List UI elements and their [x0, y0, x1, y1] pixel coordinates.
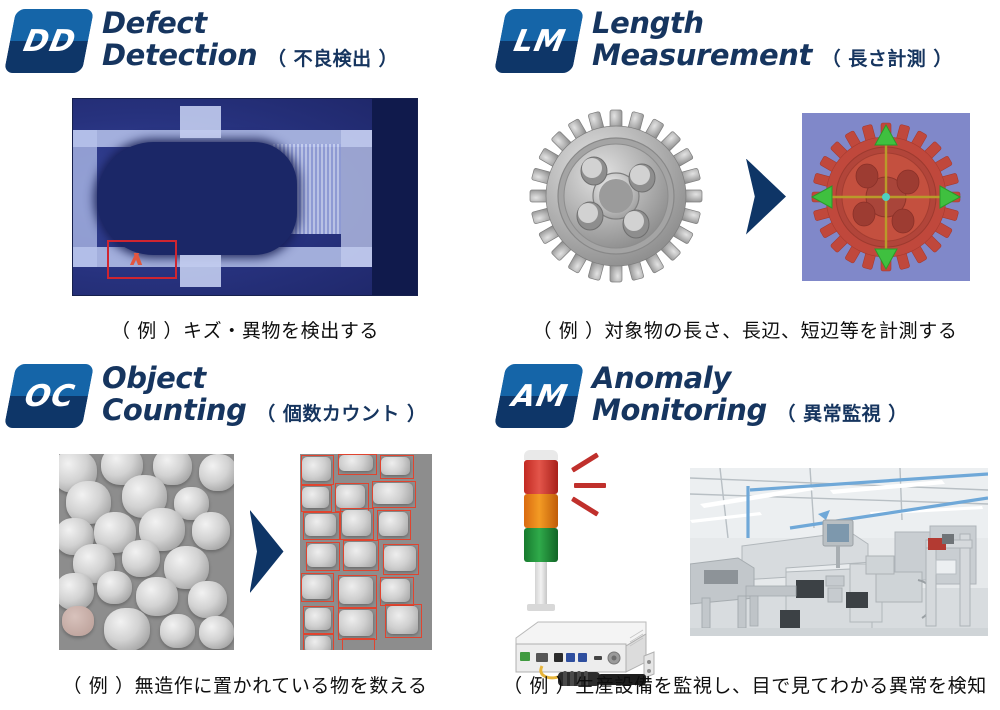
xray-capsule-body [97, 142, 297, 256]
xray-dark-edge [372, 99, 417, 295]
feature-grid: DD Defect Detection （ 不良検出 ） [0, 0, 1000, 710]
title-line-2: Monitoring [592, 393, 767, 427]
badge-am: AM [494, 364, 584, 428]
detection-box [303, 634, 334, 650]
title-line-2-wrap: Counting （ 個数カウント ） [102, 394, 426, 426]
tower-cap [524, 450, 558, 460]
object-blob [199, 454, 234, 491]
alert-ray [571, 496, 599, 516]
measured-gear-illustration [802, 113, 970, 281]
detection-box [303, 512, 339, 539]
object-blob [97, 571, 132, 604]
xray-inspection-image [73, 99, 417, 295]
signal-tower-light-icon [524, 450, 558, 610]
detection-box [342, 638, 376, 650]
objects-source-image [59, 454, 234, 650]
detection-box [301, 573, 335, 602]
object-blob [104, 608, 150, 649]
tower-lamp-green [524, 528, 558, 562]
detection-box [385, 604, 421, 637]
detection-box [340, 508, 374, 539]
object-blob [122, 540, 161, 577]
detection-box [380, 577, 414, 606]
panel-title: Length Measurement （ 長さ計測 ） [592, 6, 953, 72]
factory-line-photo [690, 468, 988, 636]
panel-title: Defect Detection （ 不良検出 ） [102, 6, 398, 72]
title-line-2-wrap: Monitoring （ 異常監視 ） [592, 394, 908, 426]
badge-abbr-label: AM [494, 364, 584, 428]
detection-box [383, 544, 419, 575]
badge-oc: OC [4, 364, 94, 428]
title-japanese: （ 長さ計測 ） [822, 48, 953, 70]
detection-box [301, 455, 335, 484]
factory-illustration [690, 468, 988, 636]
alert-ray [571, 452, 599, 472]
object-blob [136, 577, 178, 616]
gear-photo [520, 104, 730, 289]
title-japanese: （ 個数カウント ） [256, 403, 426, 425]
panel-caption: （ 例 ）生産設備を監視し、目で見てわかる異常を検知 [490, 671, 1000, 698]
monitoring-device-illustration [502, 444, 682, 659]
process-arrow-icon [250, 510, 284, 594]
panel-object-counting: OC Object Counting （ 個数カウント ） [0, 355, 490, 710]
title-line-1: Object [102, 361, 206, 395]
panel-caption: （ 例 ）対象物の長さ、長辺、短辺等を計測する [490, 316, 1000, 343]
panel-caption: （ 例 ）キズ・異物を検出する [0, 316, 490, 343]
media-area [490, 82, 1000, 311]
panel-header: OC Object Counting （ 個数カウント ） [0, 355, 490, 437]
detection-box [338, 608, 377, 639]
object-blob [160, 614, 195, 647]
badge-abbr-label: OC [4, 364, 94, 428]
object-blob [59, 573, 94, 610]
detection-box [372, 481, 416, 508]
object-blob [188, 581, 227, 618]
objects-detected-image [300, 454, 432, 650]
media-area [490, 437, 1000, 666]
measurement-result-image [802, 113, 970, 281]
object-blob [62, 606, 94, 635]
tower-lamp-red [524, 460, 558, 494]
detection-box [306, 542, 340, 571]
panel-header: DD Defect Detection （ 不良検出 ） [0, 0, 490, 82]
panel-header: AM Anomaly Monitoring （ 異常監視 ） [490, 355, 1000, 437]
title-line-2: Measurement [592, 38, 812, 72]
media-area [0, 82, 490, 311]
detection-box [301, 485, 332, 512]
panel-defect-detection: DD Defect Detection （ 不良検出 ） [0, 0, 490, 355]
panel-title: Anomaly Monitoring （ 異常監視 ） [592, 361, 908, 427]
panel-caption: （ 例 ）無造作に置かれている物を数える [0, 671, 490, 698]
title-line-2-wrap: Measurement （ 長さ計測 ） [592, 39, 953, 71]
detection-box [377, 510, 411, 539]
title-line-2: Detection [102, 38, 257, 72]
defect-detection-box [107, 240, 176, 279]
tower-lamp-amber [524, 494, 558, 528]
alert-rays-icon [568, 454, 628, 518]
xray-bottom-connector [180, 255, 221, 286]
title-line-1: Defect [102, 6, 207, 40]
badge-abbr-label: LM [494, 9, 584, 73]
tower-pole [535, 562, 547, 604]
badge-abbr-label: DD [4, 9, 94, 73]
process-arrow-icon [746, 159, 786, 235]
gear-illustration [520, 104, 730, 289]
detection-box [303, 606, 334, 633]
badge-dd: DD [4, 9, 94, 73]
title-japanese: （ 異常監視 ） [777, 403, 908, 425]
object-blob [192, 512, 231, 549]
panel-title: Object Counting （ 個数カウント ） [102, 361, 426, 427]
title-japanese: （ 不良検出 ） [267, 48, 398, 70]
title-line-2-wrap: Detection （ 不良検出 ） [102, 39, 398, 71]
badge-lm: LM [494, 9, 584, 73]
panel-anomaly-monitoring: AM Anomaly Monitoring （ 異常監視 ） [490, 355, 1000, 710]
title-line-1: Anomaly [592, 361, 731, 395]
media-area [0, 437, 490, 666]
detection-box [343, 540, 379, 571]
detection-box [380, 455, 414, 479]
detection-box [338, 575, 377, 608]
xray-top-connector [180, 106, 221, 137]
title-line-1: Length [592, 6, 704, 40]
title-line-2: Counting [102, 393, 247, 427]
tower-base [527, 604, 555, 611]
panel-length-measurement: LM Length Measurement （ 長さ計測 ） [490, 0, 1000, 355]
xray-right-plate [341, 130, 372, 267]
alert-ray [574, 483, 606, 488]
panel-header: LM Length Measurement （ 長さ計測 ） [490, 0, 1000, 82]
detection-box [338, 454, 377, 476]
object-blob [199, 616, 234, 649]
